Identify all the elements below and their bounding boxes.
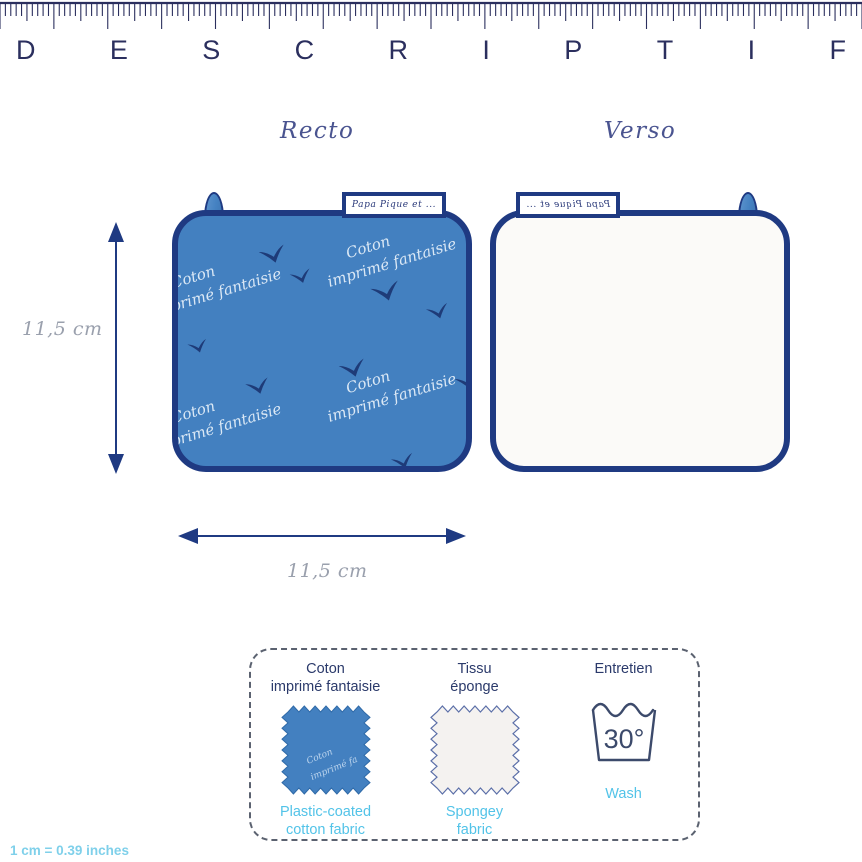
legend-column-care: Entretien 30° Wash: [554, 660, 694, 803]
wash-care-symbol: 30°: [576, 684, 672, 780]
height-dimension-label: 11,5 cm: [22, 318, 103, 340]
materials-legend: Coton imprimé fantaisie Coton imprimé fa…: [249, 648, 700, 841]
terry-swatch-icon: [427, 702, 523, 798]
title-letter: F: [829, 37, 846, 64]
title-letter: R: [389, 37, 409, 64]
legend-column-cotton: Coton imprimé fantaisie Coton imprimé fa…: [256, 660, 396, 840]
verso-product-illustration: Papa Pique et ...: [490, 192, 790, 472]
recto-label: Recto: [280, 118, 354, 144]
legend-sub-care: Wash: [605, 785, 642, 803]
legend-sub-cotton: Plastic-coated cotton fabric: [280, 803, 371, 839]
unit-conversion-note: 1 cm = 0.39 inches: [10, 843, 129, 858]
title-letter: D: [16, 37, 36, 64]
verso-panel: [490, 210, 790, 472]
height-dimension-arrow: [108, 222, 124, 474]
title-letter: I: [482, 37, 490, 64]
width-dimension-label: 11,5 cm: [287, 560, 368, 582]
title-letter: C: [295, 37, 315, 64]
recto-product-illustration: Cotonimprimé fantaisieCotonimprimé fanta…: [172, 192, 472, 472]
svg-text:imprimé fantaisie: imprimé fantaisie: [325, 235, 458, 291]
title-letter: S: [202, 37, 220, 64]
cotton-swatch-icon: Coton imprimé fa: [278, 702, 374, 798]
legend-title-terry: Tissu éponge: [450, 660, 498, 696]
terry-swatch: [427, 702, 523, 798]
svg-text:imprimé fantaisie: imprimé fantaisie: [325, 370, 458, 426]
legend-title-care: Entretien: [594, 660, 652, 678]
legend-title-cotton: Coton imprimé fantaisie: [271, 660, 381, 696]
title-letter: P: [564, 37, 582, 64]
title-letter: T: [657, 37, 674, 64]
legend-column-terry: Tissu éponge Spongey fabric: [405, 660, 545, 840]
title-letter: I: [748, 37, 756, 64]
wash-30-icon: 30°: [579, 694, 669, 770]
wash-temperature-text: 30°: [603, 724, 644, 754]
recto-panel: Cotonimprimé fantaisieCotonimprimé fanta…: [172, 210, 472, 472]
brand-tag-text: Papa Pique et ...: [352, 200, 436, 210]
printed-pattern: Cotonimprimé fantaisieCotonimprimé fanta…: [172, 210, 472, 472]
cotton-swatch: Coton imprimé fa: [278, 702, 374, 798]
brand-tag-text: Papa Pique et ...: [526, 200, 610, 210]
verso-label: Verso: [604, 118, 676, 144]
width-dimension-arrow: [178, 528, 466, 544]
page-title: D E S C R I P T I F: [0, 30, 862, 70]
legend-sub-terry: Spongey fabric: [446, 803, 503, 839]
brand-tag: Papa Pique et ...: [516, 192, 620, 218]
ruler-icon: [0, 0, 862, 30]
title-letter: E: [110, 37, 128, 64]
brand-tag: Papa Pique et ...: [342, 192, 446, 218]
